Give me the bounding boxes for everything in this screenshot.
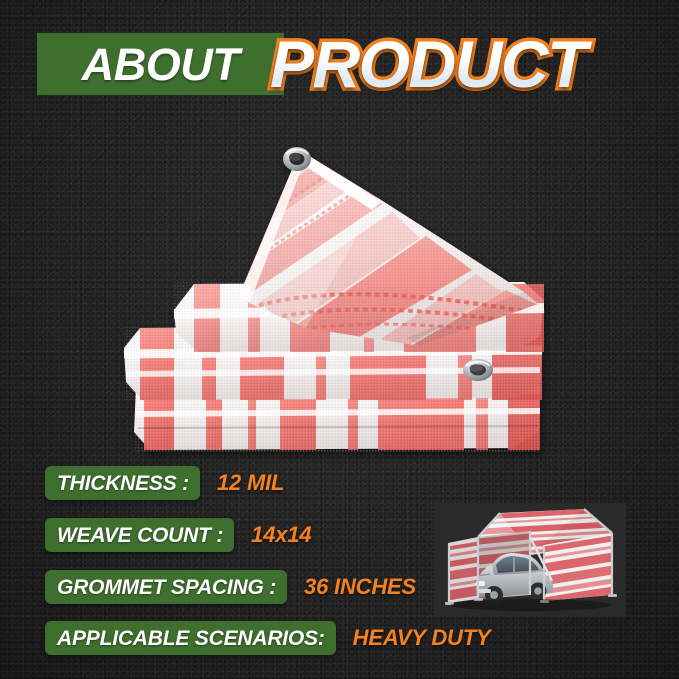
product-photo-tarp xyxy=(120,132,550,462)
spec-label-pill: THICKNESS : xyxy=(45,466,200,500)
spec-row-grommet-spacing: GROMMET SPACING : 36 INCHES xyxy=(45,570,416,604)
spec-label-pill: GROMMET SPACING : xyxy=(45,570,287,604)
spec-label-pill: APPLICABLE SCENARIOS: xyxy=(45,621,336,655)
spec-label-pill: WEAVE COUNT : xyxy=(45,518,234,552)
spec-label-text: APPLICABLE SCENARIOS: xyxy=(57,628,325,649)
spec-value-text: HEAVY DUTY xyxy=(353,627,491,649)
header: ABOUT PRODUCT PRODUCT xyxy=(0,27,679,105)
spec-label-text: THICKNESS : xyxy=(57,473,189,494)
spec-label-text: WEAVE COUNT : xyxy=(57,525,223,546)
spec-value-text: 14x14 xyxy=(251,524,311,546)
header-about-text: ABOUT xyxy=(37,33,284,95)
spec-value-text: 36 INCHES xyxy=(304,576,416,598)
scenario-photo-carport xyxy=(434,503,626,617)
spec-row-thickness: THICKNESS : 12 MIL xyxy=(45,466,284,500)
spec-row-applicable-scenarios: APPLICABLE SCENARIOS: HEAVY DUTY xyxy=(45,621,490,655)
grommet-top xyxy=(283,147,311,171)
spec-label-text: GROMMET SPACING : xyxy=(57,577,276,598)
grommet-right xyxy=(463,359,493,381)
about-product-infographic: ABOUT PRODUCT PRODUCT xyxy=(0,0,679,679)
spec-row-weave-count: WEAVE COUNT : 14x14 xyxy=(45,518,311,552)
spec-value-text: 12 MIL xyxy=(217,472,284,494)
header-product-text-outline: PRODUCT xyxy=(270,25,586,103)
